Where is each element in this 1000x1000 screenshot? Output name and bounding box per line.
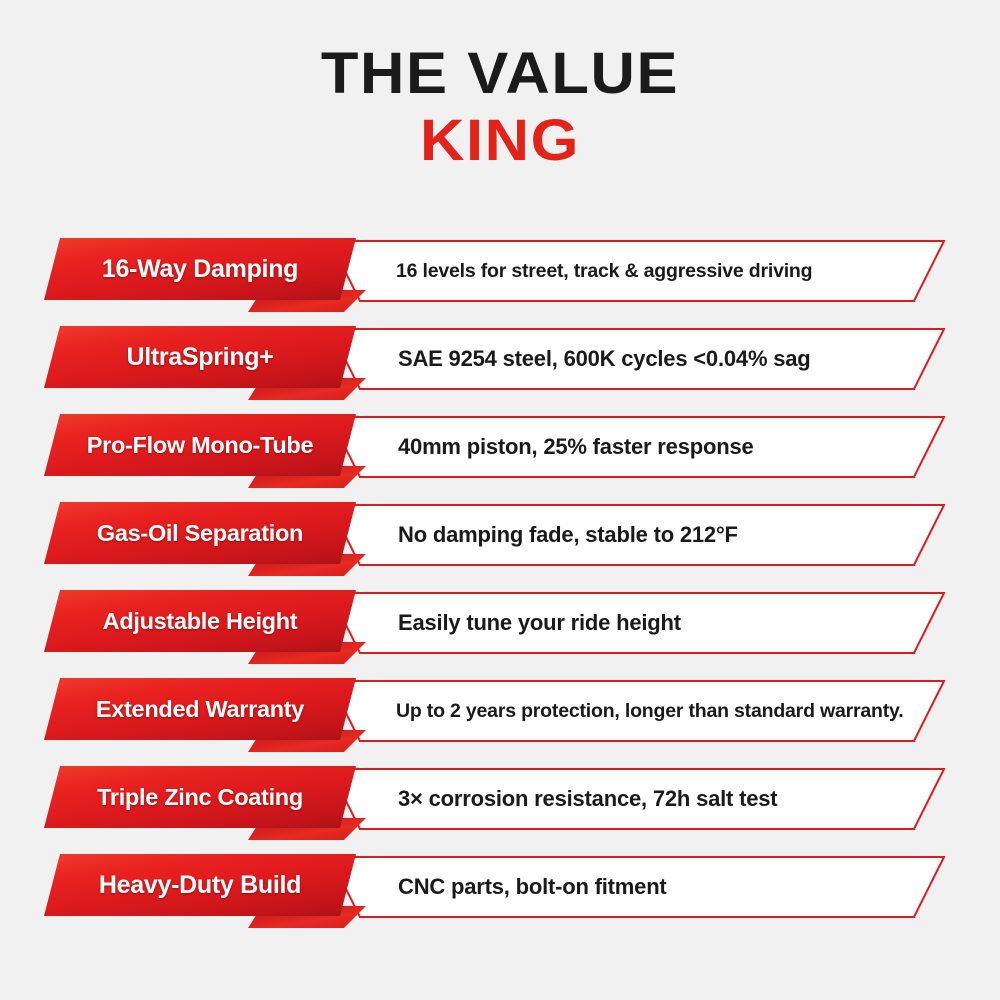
- feature-label: Extended Warranty: [44, 678, 356, 740]
- feature-ribbon: Gas-Oil Separation: [0, 496, 400, 584]
- feature-description: 16 levels for street, track & aggressive…: [396, 240, 941, 302]
- feature-label: 16-Way Damping: [44, 238, 356, 300]
- feature-row: CNC parts, bolt-on fitmentHeavy-Duty Bui…: [0, 848, 1000, 936]
- feature-ribbon: UltraSpring+: [0, 320, 400, 408]
- feature-row: 16 levels for street, track & aggressive…: [0, 232, 1000, 320]
- feature-label: UltraSpring+: [44, 326, 356, 388]
- page-title: THE VALUE KING: [0, 44, 1000, 172]
- feature-label: Heavy-Duty Build: [44, 854, 356, 916]
- feature-label: Gas-Oil Separation: [44, 502, 356, 564]
- feature-label: Adjustable Height: [44, 590, 356, 652]
- feature-ribbon: Heavy-Duty Build: [0, 848, 400, 936]
- feature-ribbon: Adjustable Height: [0, 584, 400, 672]
- feature-ribbon: Extended Warranty: [0, 672, 400, 760]
- feature-description: 40mm piston, 25% faster response: [398, 416, 943, 478]
- feature-row: Easily tune your ride heightAdjustable H…: [0, 584, 1000, 672]
- title-line-accent: KING: [0, 110, 1000, 172]
- feature-ribbon: Pro-Flow Mono-Tube: [0, 408, 400, 496]
- feature-description: 3× corrosion resistance, 72h salt test: [398, 768, 943, 830]
- feature-description: CNC parts, bolt-on fitment: [398, 856, 943, 918]
- title-line-primary: THE VALUE: [0, 44, 1000, 104]
- feature-row: 40mm piston, 25% faster responsePro-Flow…: [0, 408, 1000, 496]
- feature-label: Pro-Flow Mono-Tube: [44, 414, 356, 476]
- feature-ribbon: Triple Zinc Coating: [0, 760, 400, 848]
- feature-description: Easily tune your ride height: [398, 592, 943, 654]
- feature-description: Up to 2 years protection, longer than st…: [396, 680, 941, 742]
- feature-row: No damping fade, stable to 212°FGas-Oil …: [0, 496, 1000, 584]
- feature-row: Up to 2 years protection, longer than st…: [0, 672, 1000, 760]
- feature-row: SAE 9254 steel, 600K cycles <0.04% sagUl…: [0, 320, 1000, 408]
- feature-label: Triple Zinc Coating: [44, 766, 356, 828]
- feature-ribbon: 16-Way Damping: [0, 232, 400, 320]
- feature-list: 16 levels for street, track & aggressive…: [0, 232, 1000, 936]
- feature-description: SAE 9254 steel, 600K cycles <0.04% sag: [398, 328, 943, 390]
- feature-description: No damping fade, stable to 212°F: [398, 504, 943, 566]
- feature-row: 3× corrosion resistance, 72h salt testTr…: [0, 760, 1000, 848]
